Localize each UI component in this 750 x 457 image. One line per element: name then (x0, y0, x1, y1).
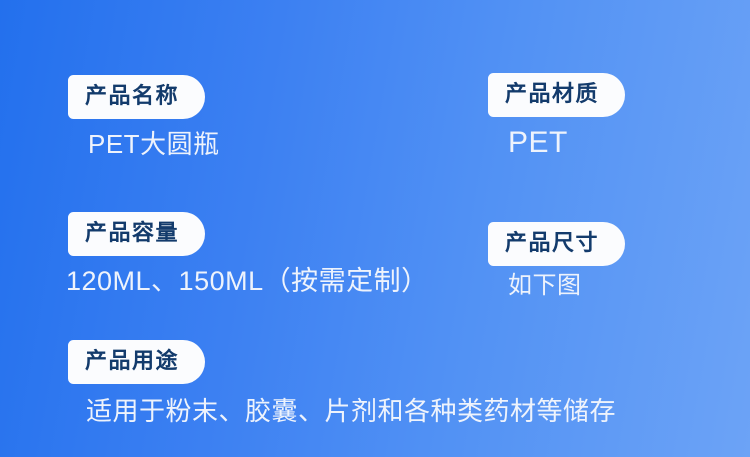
spec-value-product-capacity: 120ML、150ML（按需定制） (66, 268, 429, 295)
spec-value-product-usage: 适用于粉末、胶囊、片剂和各种类药材等储存 (86, 398, 616, 424)
spec-label-product-material: 产品材质 (505, 83, 599, 105)
spec-label-product-size: 产品尺寸 (505, 232, 599, 254)
spec-label-product-capacity: 产品容量 (85, 222, 179, 244)
spec-badge-product-name: 产品名称 (68, 75, 205, 119)
spec-badge-product-usage: 产品用途 (68, 340, 205, 384)
spec-badge-product-capacity: 产品容量 (68, 212, 205, 256)
spec-badge-product-material: 产品材质 (488, 73, 625, 117)
spec-badge-product-size: 产品尺寸 (488, 222, 625, 266)
spec-value-product-material: PET (508, 128, 568, 158)
spec-value-product-name: PET大圆瓶 (88, 131, 220, 157)
product-spec-panel: 产品名称 PET大圆瓶 产品材质 PET 产品容量 120ML、150ML（按需… (0, 0, 750, 457)
spec-label-product-name: 产品名称 (85, 85, 179, 107)
spec-label-product-usage: 产品用途 (85, 350, 179, 372)
spec-value-product-size: 如下图 (508, 274, 582, 298)
